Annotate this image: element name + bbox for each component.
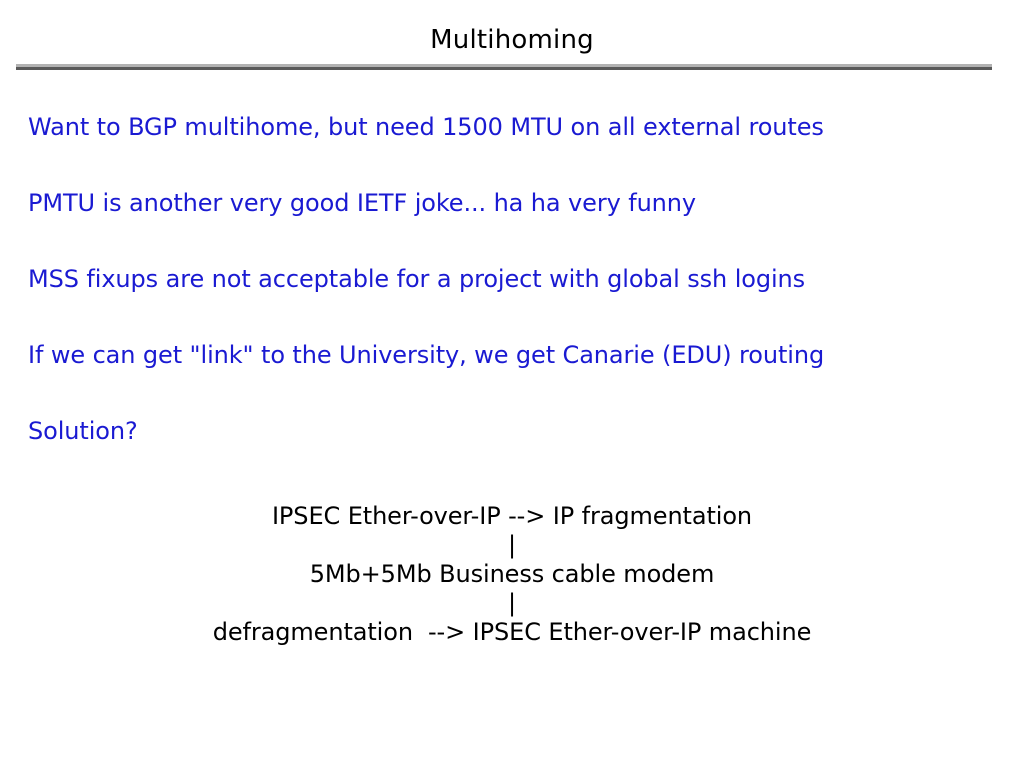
network-flow-diagram: IPSEC Ether-over-IP --> IP fragmentation… [0,500,1024,648]
bullet-item-5: Solution? [28,416,988,446]
bullet-item-3: MSS fixups are not acceptable for a proj… [28,264,988,294]
page-title: Multihoming [0,24,1024,56]
diagram-node-1: IPSEC Ether-over-IP --> IP fragmentation [0,500,1024,532]
diagram-node-3: defragmentation --> IPSEC Ether-over-IP … [0,616,1024,648]
title-divider-shadow [16,67,992,70]
diagram-connector-2: | [0,590,1024,616]
diagram-connector-1: | [0,532,1024,558]
bullet-item-2: PMTU is another very good IETF joke... h… [28,188,988,218]
title-divider [16,64,992,70]
slide-canvas: Multihoming Want to BGP multihome, but n… [0,0,1024,768]
bullet-list: Want to BGP multihome, but need 1500 MTU… [28,112,988,492]
bullet-item-4: If we can get "link" to the University, … [28,340,988,370]
bullet-item-1: Want to BGP multihome, but need 1500 MTU… [28,112,988,142]
diagram-node-2: 5Mb+5Mb Business cable modem [0,558,1024,590]
